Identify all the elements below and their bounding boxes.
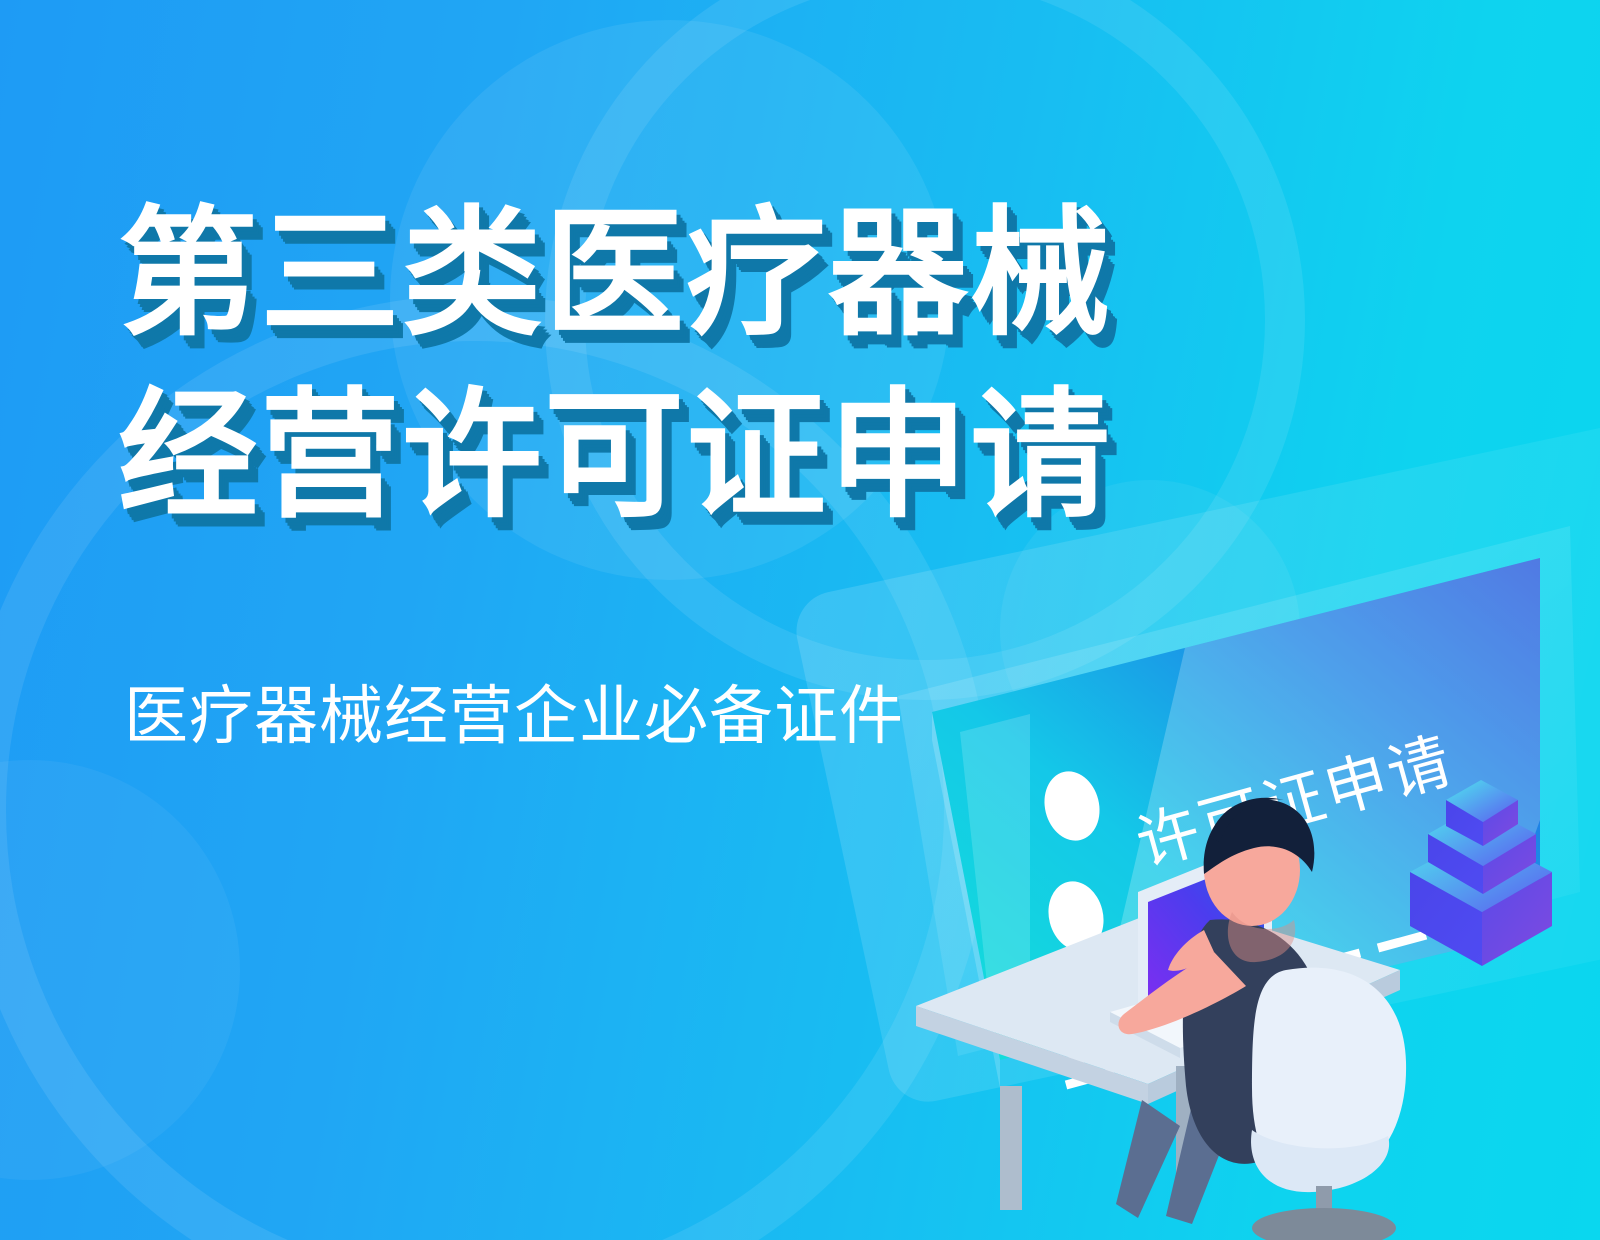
chair-base bbox=[1252, 1208, 1396, 1240]
illustration-scene: 许可证申请 bbox=[880, 500, 1600, 1240]
desk-leg-left bbox=[1000, 1086, 1022, 1210]
poster-canvas: 第三类医疗器械 经营许可证申请 医疗器械经营企业必备证件 bbox=[0, 0, 1600, 1240]
headline-line-2: 经营许可证申请 bbox=[118, 365, 1112, 547]
headline-line-1: 第三类医疗器械 bbox=[118, 183, 1112, 365]
decor-blob-c bbox=[0, 760, 240, 1180]
subtitle-text: 医疗器械经营企业必备证件 bbox=[124, 676, 904, 756]
headline-block: 第三类医疗器械 经营许可证申请 bbox=[118, 183, 1112, 547]
office-chair bbox=[1251, 968, 1406, 1240]
